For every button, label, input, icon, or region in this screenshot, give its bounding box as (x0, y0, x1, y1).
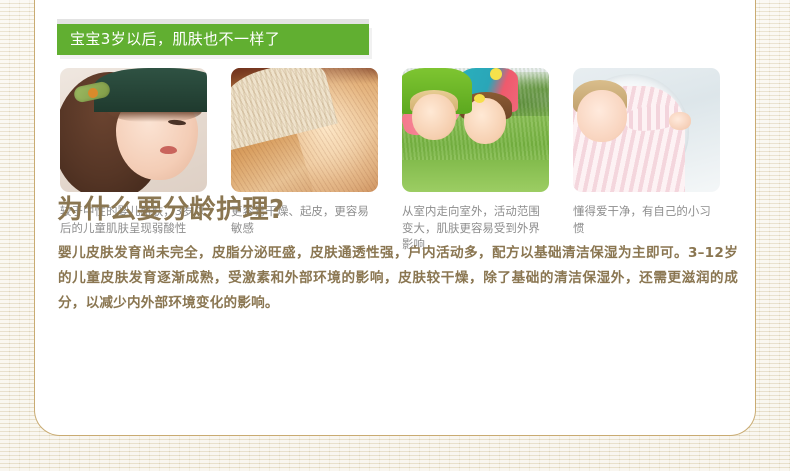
boy-head-shape (412, 94, 456, 140)
feature-card: 懂得爱干净，有自己的小习惯 (573, 68, 720, 253)
girl-with-hair-bow-photo (60, 68, 207, 192)
banner-title: 宝宝3岁以后，肌肤也不一样了 (57, 24, 369, 55)
dry-skin-closeup-photo (231, 68, 378, 192)
hair-clip-icon (474, 94, 485, 103)
flower-icon (490, 68, 502, 80)
hand-shape (669, 112, 691, 130)
shirt-shape (94, 68, 207, 112)
girl-head-shape (577, 90, 627, 142)
section-paragraph: 婴儿皮肤发育尚未完全，皮脂分泌旺盛，皮肤通透性强，户内活动多，配方以基础清洁保湿… (58, 241, 738, 316)
skin-texture (231, 68, 378, 192)
girl-washing-hands-photo (573, 68, 720, 192)
section-banner: 宝宝3岁以后，肌肤也不一样了 (57, 19, 369, 55)
section-headline: 为什么要分龄护理? (57, 189, 285, 226)
content-card: 宝宝3岁以后，肌肤也不一样了 较于中性的婴儿肌肤，3岁以后的儿童肌肤呈现弱酸性 (34, 0, 756, 436)
kids-on-grass-photo (402, 68, 549, 192)
feature-card-caption: 懂得爱干净，有自己的小习惯 (573, 203, 720, 236)
feature-card: 从室内走向室外，活动范围变大，肌肤更容易受到外界影响 (402, 68, 549, 253)
lips-shape (160, 146, 177, 154)
page-background: 宝宝3岁以后，肌肤也不一样了 较于中性的婴儿肌肤，3岁以后的儿童肌肤呈现弱酸性 (0, 0, 790, 471)
